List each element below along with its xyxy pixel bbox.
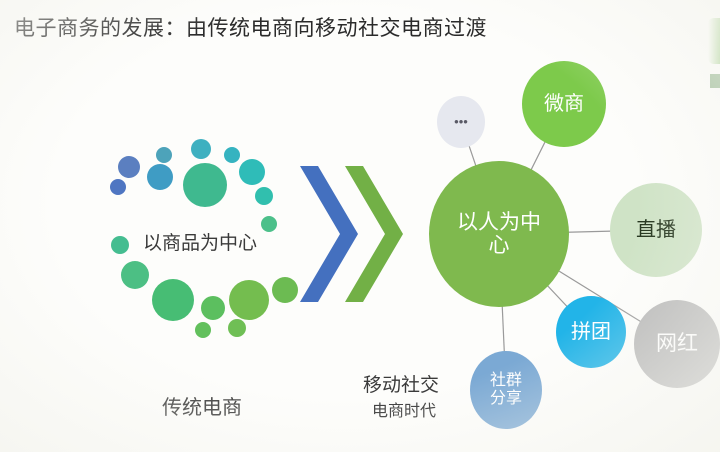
- caption-mobile-social-main: 移动社交: [363, 370, 439, 397]
- satellite-zhibo[interactable]: 直播: [610, 183, 702, 277]
- satellite-ellipsis-label: •••: [454, 115, 468, 129]
- satellite-shequn-label: 社群分享: [490, 372, 522, 407]
- caption-traditional-ecommerce: 传统电商: [162, 391, 242, 420]
- satellite-wanghong-label: 网红: [656, 332, 698, 355]
- slide-canvas: 电子商务的发展：由传统电商向移动社交电商过渡 以商品为中心 以人为中心•••微商…: [0, 0, 720, 452]
- satellite-zhibo-label: 直播: [636, 219, 676, 241]
- center-node[interactable]: 以人为中心: [429, 161, 569, 307]
- satellite-pintuan[interactable]: 拼团: [556, 296, 626, 368]
- satellite-weishang-label: 微商: [544, 93, 584, 115]
- center-node-label: 以人为中心: [455, 211, 543, 257]
- satellite-ellipsis[interactable]: •••: [437, 96, 485, 148]
- satellite-weishang[interactable]: 微商: [522, 61, 606, 147]
- satellite-wanghong[interactable]: 网红: [634, 300, 720, 388]
- satellite-shequn[interactable]: 社群分享: [470, 351, 542, 429]
- satellite-pintuan-label: 拼团: [571, 321, 611, 343]
- caption-mobile-social-sub: 电商时代: [372, 397, 436, 421]
